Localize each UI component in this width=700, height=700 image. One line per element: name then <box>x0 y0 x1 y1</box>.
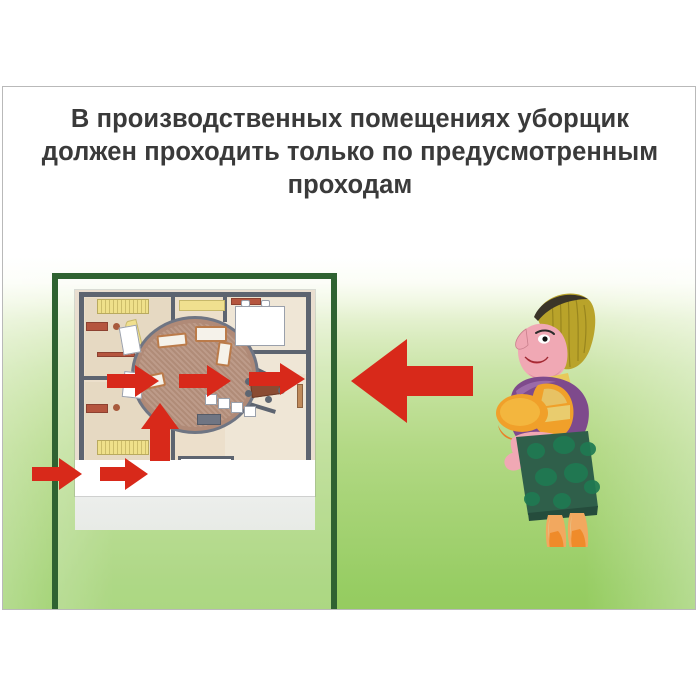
plan-pillow-2 <box>261 300 270 307</box>
arrow-entry-2 <box>100 458 148 490</box>
plan-wall-left <box>79 292 84 468</box>
plan-pillow-1 <box>241 300 250 307</box>
poster-card: В производственных помещениях уборщик до… <box>2 86 696 610</box>
arrow-plan-1 <box>107 364 159 398</box>
arrow-plan-up <box>141 403 179 461</box>
plan-cab-4 <box>244 406 256 417</box>
poster-root: В производственных помещениях уборщик до… <box>0 0 700 700</box>
plan-furniture-4 <box>113 404 120 411</box>
arrow-plan-2 <box>179 364 231 398</box>
plan-chair-6 <box>265 396 272 403</box>
plan-cab-2 <box>218 398 230 409</box>
plan-sofa-2 <box>195 326 227 342</box>
plan-cab-3 <box>231 402 243 413</box>
plan-stairs-top-left <box>97 299 149 314</box>
plan-band-top <box>179 300 225 311</box>
plan-wall-right <box>306 292 311 468</box>
page-title-line-3: проходам <box>3 169 696 202</box>
plan-furniture-2 <box>86 404 108 413</box>
plan-wall-int-6 <box>253 350 311 354</box>
floor-plan-frame <box>52 273 337 610</box>
arrow-entry-1 <box>32 458 82 490</box>
arrow-main-pointer <box>351 338 473 424</box>
photo-mat <box>75 496 315 530</box>
page-title: В производственных помещениях уборщик до… <box>3 103 696 202</box>
plan-wall-top <box>79 292 311 297</box>
plan-bed <box>235 306 285 346</box>
plan-console <box>197 414 221 425</box>
arrow-plan-3 <box>249 362 305 396</box>
plan-furniture-1 <box>86 322 108 331</box>
page-title-line-2: должен проходить только по предусмотренн… <box>3 136 696 169</box>
page-title-line-1: В производственных помещениях уборщик <box>3 103 696 136</box>
cleaner-woman-illustration <box>492 285 612 547</box>
floor-plan-inner <box>58 279 331 610</box>
